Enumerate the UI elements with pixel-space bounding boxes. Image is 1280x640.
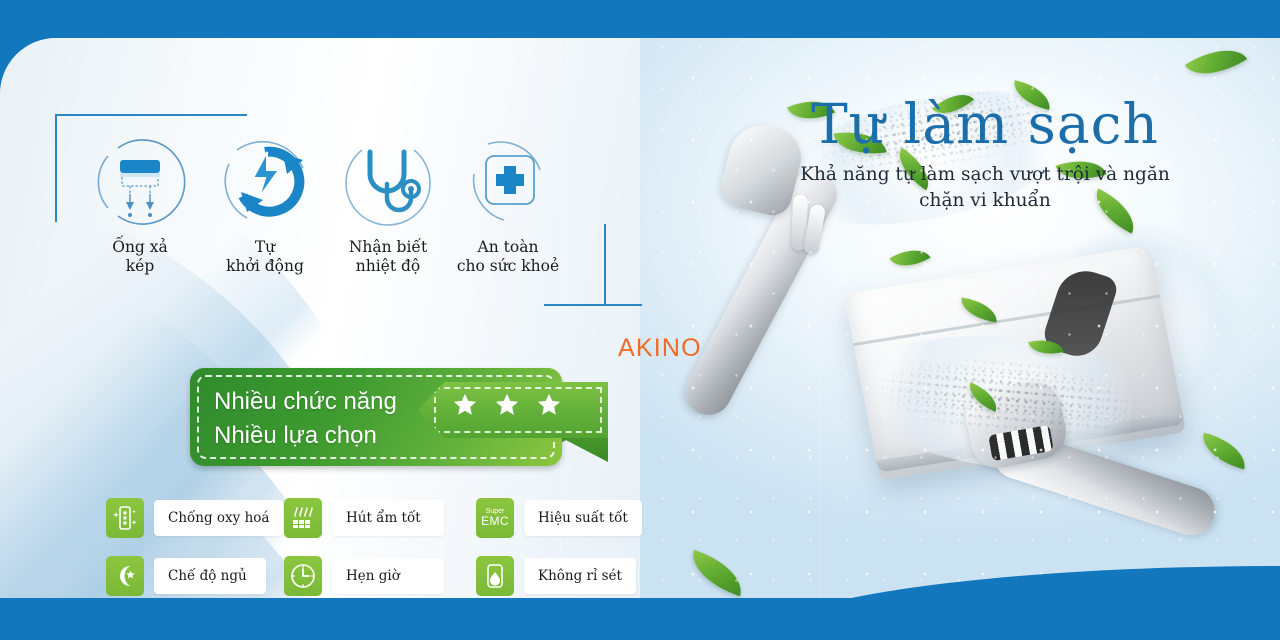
feature-label-line1: An toàn — [478, 238, 539, 256]
ribbon-line1: Nhiều chức năng — [214, 388, 397, 415]
decor-line-vertical — [55, 114, 57, 222]
decor-line-horizontal — [55, 114, 247, 116]
feature-chip-grid: Chống oxy hoá Hút ẩm tốt — [106, 498, 636, 598]
chip-super-emc[interactable]: Super EMC Hiệu suất tốt — [476, 498, 642, 538]
product-banner: Tự làm sạch Khả năng tự làm sạch vượt tr… — [0, 0, 1280, 640]
chip-dehumidify[interactable]: Hút ẩm tốt — [284, 498, 444, 538]
auto-restart-icon — [217, 134, 313, 230]
feature-label-line2: khởi động — [226, 257, 304, 275]
feature-label: Nhận biết nhiệt độ — [326, 238, 450, 277]
chip-label: Hiệu suất tốt — [524, 500, 642, 536]
emc-line2: EMC — [481, 515, 509, 528]
chip-label: Không rỉ sét — [524, 558, 636, 594]
dehumidify-icon — [284, 498, 322, 538]
feature-label-line1: Ống xả — [112, 238, 168, 256]
hero-title: Tự làm sạch — [770, 96, 1200, 154]
promo-ribbon: Nhiều chức năng Nhiều lựa chọn — [190, 368, 630, 478]
feature-label: An toàn cho sức khoẻ — [446, 238, 570, 277]
feature-health-safe[interactable]: An toàn cho sức khoẻ — [446, 134, 570, 277]
timer-icon — [284, 556, 322, 596]
hero-subtitle-line2: chặn vi khuẩn — [919, 190, 1051, 211]
chip-anti-oxidation[interactable]: Chống oxy hoá — [106, 498, 283, 538]
hero-subtitle: Khả năng tự làm sạch vượt trội và ngăn c… — [770, 162, 1200, 215]
decor-line-horizontal — [544, 304, 642, 306]
chip-label: Chống oxy hoá — [154, 500, 283, 536]
brand-name: AKINO — [618, 334, 702, 363]
top-blue-band — [0, 0, 1280, 40]
ac-dual-drain-icon — [92, 134, 188, 230]
feature-label: Tự khởi động — [203, 238, 327, 277]
super-emc-icon: Super EMC — [476, 498, 514, 538]
feature-auto-restart[interactable]: Tự khởi động — [203, 134, 327, 277]
star-icon — [536, 392, 562, 418]
chip-label: Hẹn giờ — [332, 558, 444, 594]
stethoscope-icon — [340, 134, 436, 230]
feature-label-line2: cho sức khoẻ — [457, 257, 559, 275]
content-panel: Tự làm sạch Khả năng tự làm sạch vượt tr… — [0, 38, 1280, 598]
anti-oxidation-icon — [106, 498, 144, 538]
feature-label-line1: Tự — [255, 238, 275, 256]
anti-rust-icon — [476, 556, 514, 596]
health-plus-icon — [460, 134, 556, 230]
chip-anti-rust[interactable]: Không rỉ sét — [476, 556, 636, 596]
ribbon-line2: Nhiều lựa chọn — [214, 422, 377, 449]
ribbon-text: Nhiều chức năng Nhiều lựa chọn — [214, 385, 397, 453]
star-icon — [494, 392, 520, 418]
feature-label-line2: nhiệt độ — [356, 257, 421, 275]
feature-label-line1: Nhận biết — [349, 238, 427, 256]
feature-temp-sense[interactable]: Nhận biết nhiệt độ — [326, 134, 450, 277]
hero-text-block: Tự làm sạch Khả năng tự làm sạch vượt tr… — [770, 96, 1200, 214]
feature-label-line2: kép — [126, 257, 155, 275]
feature-label: Ống xả kép — [78, 238, 202, 277]
chip-timer[interactable]: Hẹn giờ — [284, 556, 444, 596]
hero-subtitle-line1: Khả năng tự làm sạch vượt trội và ngăn — [800, 164, 1170, 185]
top-feature-row: Ống xả kép Tự khởi — [78, 134, 618, 294]
chip-label: Hút ẩm tốt — [332, 500, 444, 536]
ribbon-stars — [452, 392, 562, 418]
star-icon — [452, 392, 478, 418]
feature-dual-drain[interactable]: Ống xả kép — [78, 134, 202, 277]
